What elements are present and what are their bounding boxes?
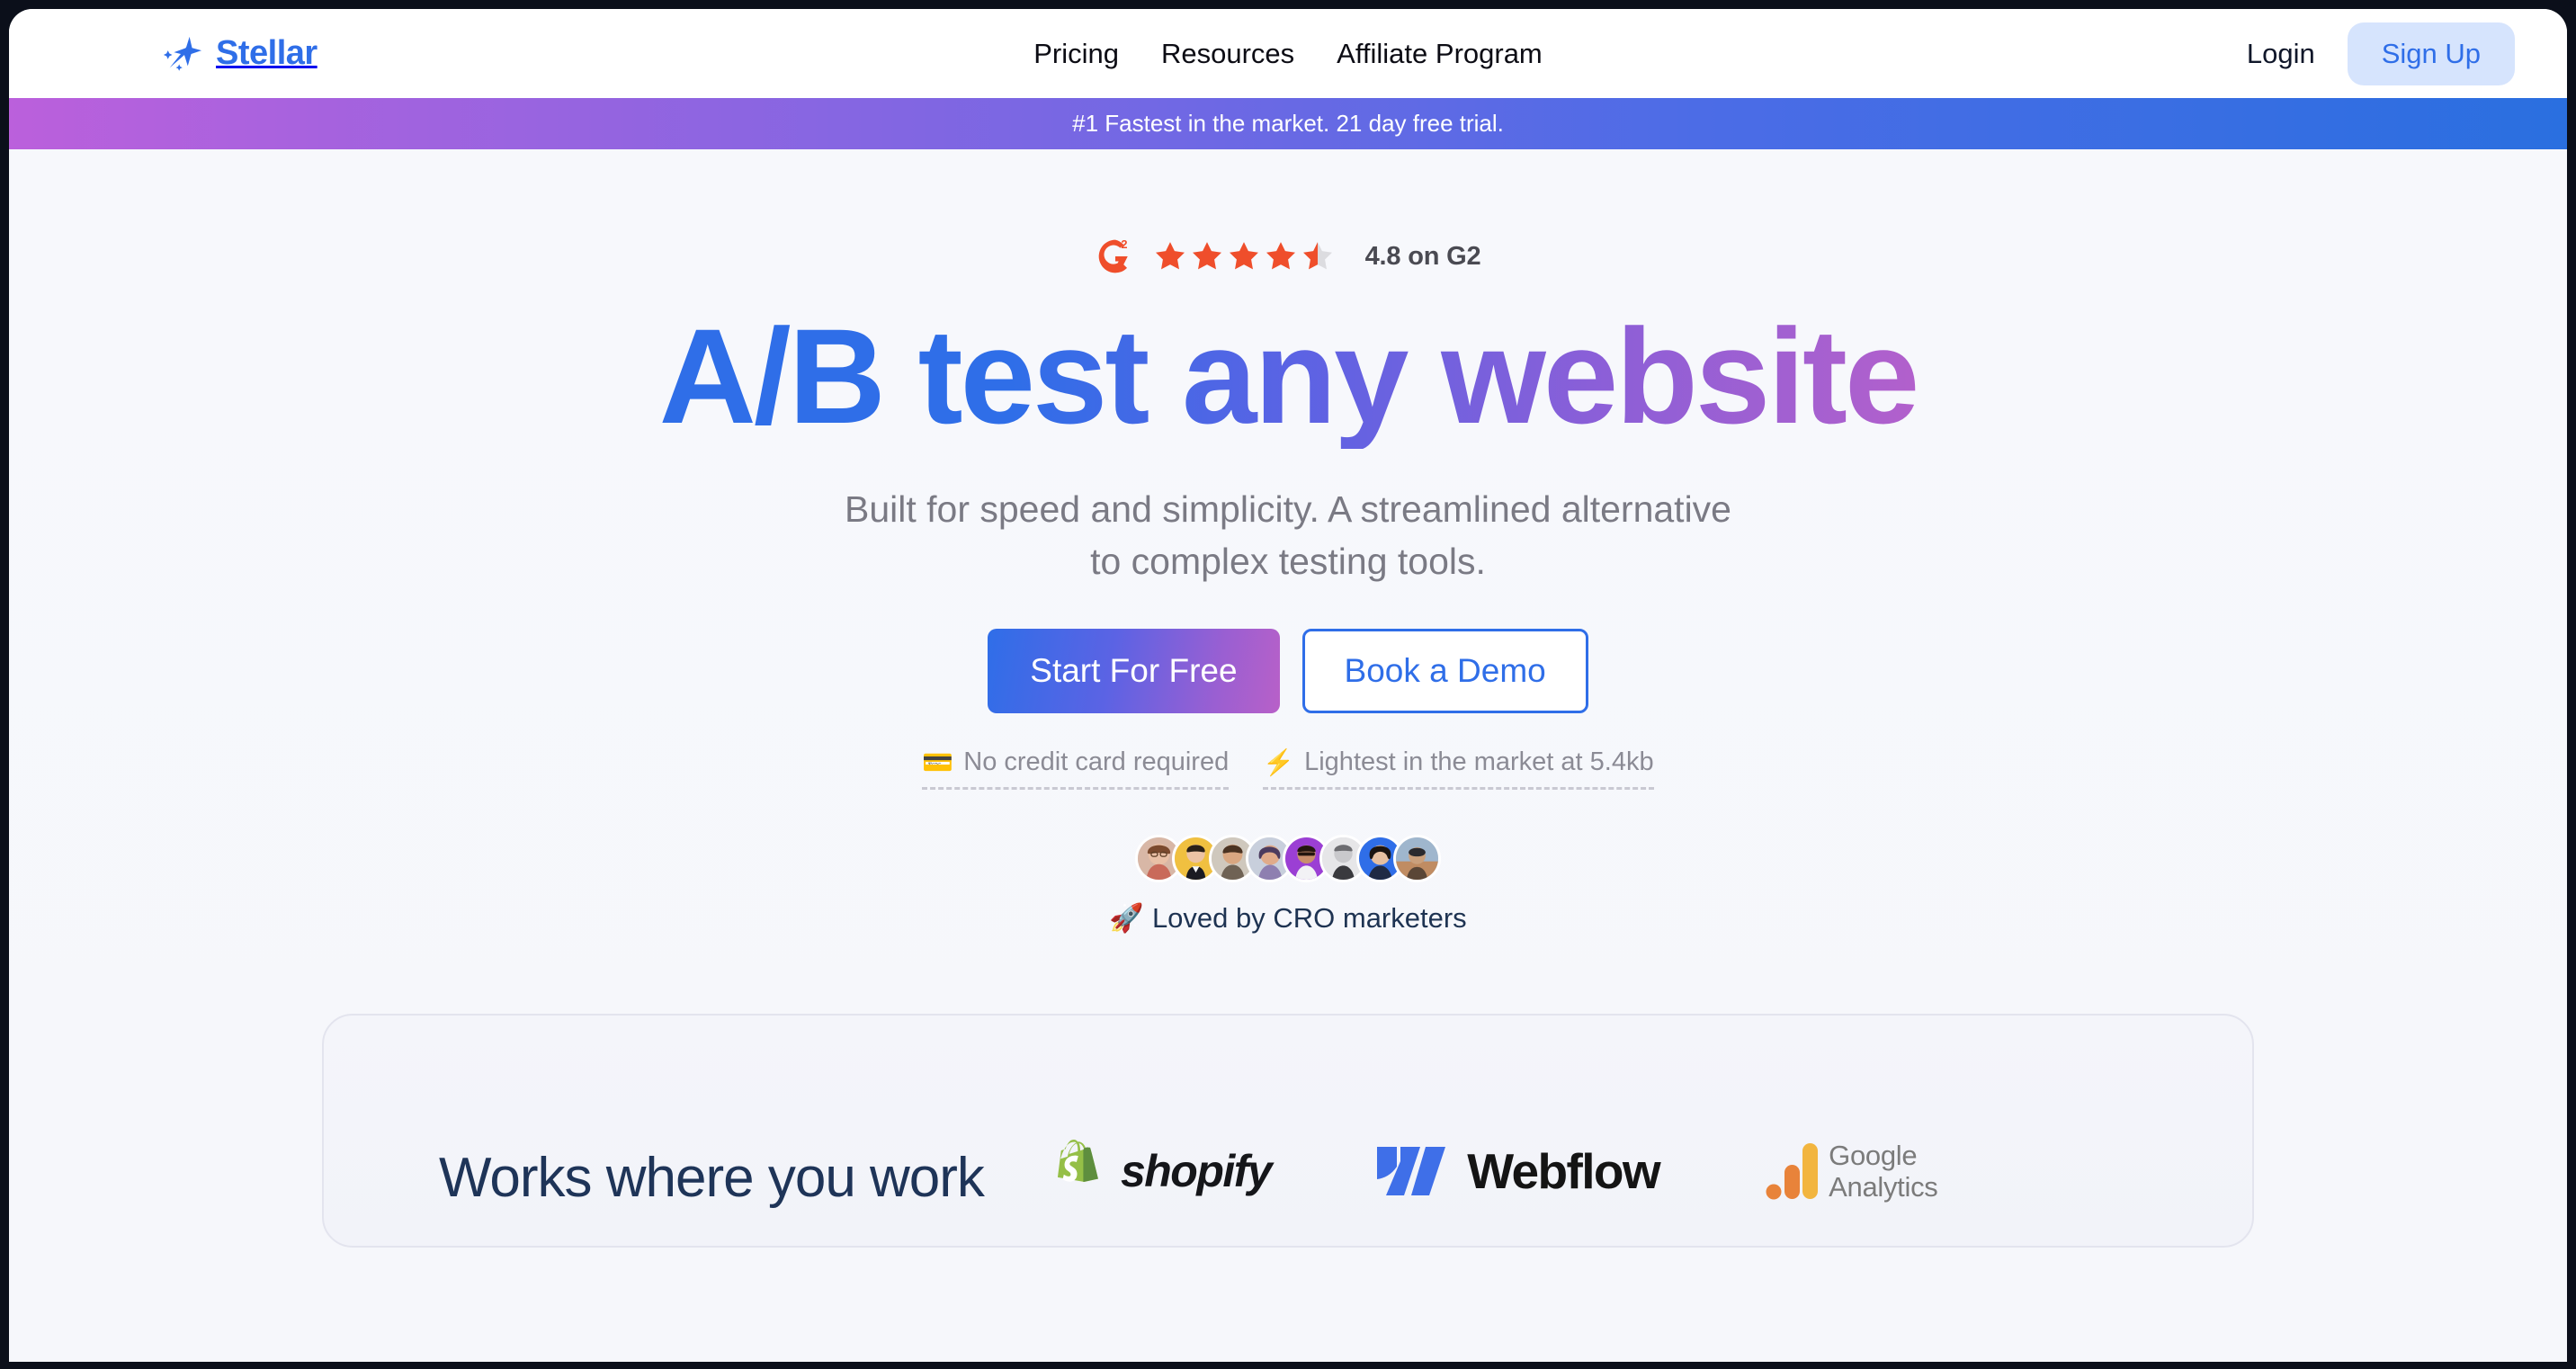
hero-subtitle: Built for speed and simplicity. A stream… — [845, 483, 1731, 587]
ga-line-1: Google — [1829, 1141, 1937, 1169]
star-icon — [1264, 239, 1298, 273]
loved-by-label: Loved by CRO marketers — [1152, 902, 1467, 935]
browser-frame: Stellar Pricing Resources Affiliate Prog… — [0, 0, 2576, 1369]
shooting-star-icon — [162, 33, 203, 75]
hero-perks: 💳 No credit card required ⚡ Lightest in … — [922, 747, 1653, 790]
webflow-icon — [1377, 1141, 1456, 1201]
works-card-title: Works where you work — [439, 1146, 984, 1210]
avatar — [1393, 835, 1441, 882]
perk-no-credit-card: 💳 No credit card required — [922, 747, 1229, 790]
shopify-wordmark: shopify — [1121, 1145, 1271, 1197]
brand-webflow[interactable]: Webflow — [1377, 1141, 1659, 1201]
rocket-icon: 🚀 — [1109, 901, 1144, 935]
promo-banner[interactable]: #1 Fastest in the market. 21 day free tr… — [9, 98, 2567, 149]
ga-line-2: Analytics — [1829, 1173, 1937, 1201]
site-header: Stellar Pricing Resources Affiliate Prog… — [9, 9, 2567, 98]
integration-logos: shopify Webflow — [1054, 1140, 1938, 1210]
nav-item-pricing[interactable]: Pricing — [1033, 38, 1119, 70]
promo-banner-text: #1 Fastest in the market. 21 day free tr… — [1072, 110, 1504, 138]
google-analytics-icon — [1766, 1141, 1818, 1201]
perk-label: Lightest in the market at 5.4kb — [1304, 747, 1654, 777]
page-viewport: Stellar Pricing Resources Affiliate Prog… — [9, 9, 2567, 1362]
credit-card-icon: 💳 — [922, 750, 953, 775]
logo-link[interactable]: Stellar — [162, 33, 318, 75]
nav-item-resources[interactable]: Resources — [1161, 38, 1294, 70]
perk-label: No credit card required — [963, 747, 1229, 777]
header-actions: Login Sign Up — [2234, 22, 2515, 85]
main-nav: Pricing Resources Affiliate Program — [1033, 38, 1543, 70]
star-rating — [1153, 239, 1335, 273]
svg-text:2: 2 — [1121, 237, 1127, 251]
sign-up-button[interactable]: Sign Up — [2348, 22, 2515, 85]
hero-cta-row: Start For Free Book a Demo — [988, 629, 1588, 713]
lightning-bolt-icon: ⚡ — [1263, 750, 1294, 775]
star-icon — [1190, 239, 1224, 273]
g2-rating: 2 4.8 on G2 — [1096, 237, 1481, 276]
g2-icon: 2 — [1096, 237, 1135, 276]
hero-subtitle-line-1: Built for speed and simplicity. A stream… — [845, 488, 1731, 530]
brand-shopify[interactable]: shopify — [1054, 1140, 1271, 1203]
book-a-demo-button[interactable]: Book a Demo — [1302, 629, 1588, 713]
webflow-wordmark: Webflow — [1467, 1142, 1659, 1200]
hero-subtitle-line-2: to complex testing tools. — [1090, 541, 1486, 582]
brand-google-analytics[interactable]: Google Analytics — [1766, 1141, 1937, 1201]
star-icon — [1153, 239, 1187, 273]
social-proof: 🚀 Loved by CRO marketers — [1109, 835, 1466, 935]
nav-item-affiliate-program[interactable]: Affiliate Program — [1337, 38, 1543, 70]
loved-by-text: 🚀 Loved by CRO marketers — [1109, 901, 1466, 935]
start-for-free-button[interactable]: Start For Free — [988, 629, 1279, 713]
avatar-group — [1135, 835, 1441, 882]
g2-score-text: 4.8 on G2 — [1365, 242, 1481, 272]
logo-text: Stellar — [216, 34, 318, 73]
works-where-you-work-card: Works where you work shopify — [322, 1014, 2254, 1248]
star-icon — [1227, 239, 1261, 273]
login-link[interactable]: Login — [2234, 38, 2328, 70]
google-analytics-wordmark: Google Analytics — [1829, 1141, 1937, 1201]
page-title: A/B test any website — [659, 303, 1918, 449]
perk-lightest-in-market: ⚡ Lightest in the market at 5.4kb — [1263, 747, 1653, 790]
star-half-icon — [1301, 239, 1335, 273]
shopify-icon — [1054, 1140, 1110, 1203]
hero-section: 2 4.8 on G2 A/B test any website — [9, 149, 2567, 1248]
